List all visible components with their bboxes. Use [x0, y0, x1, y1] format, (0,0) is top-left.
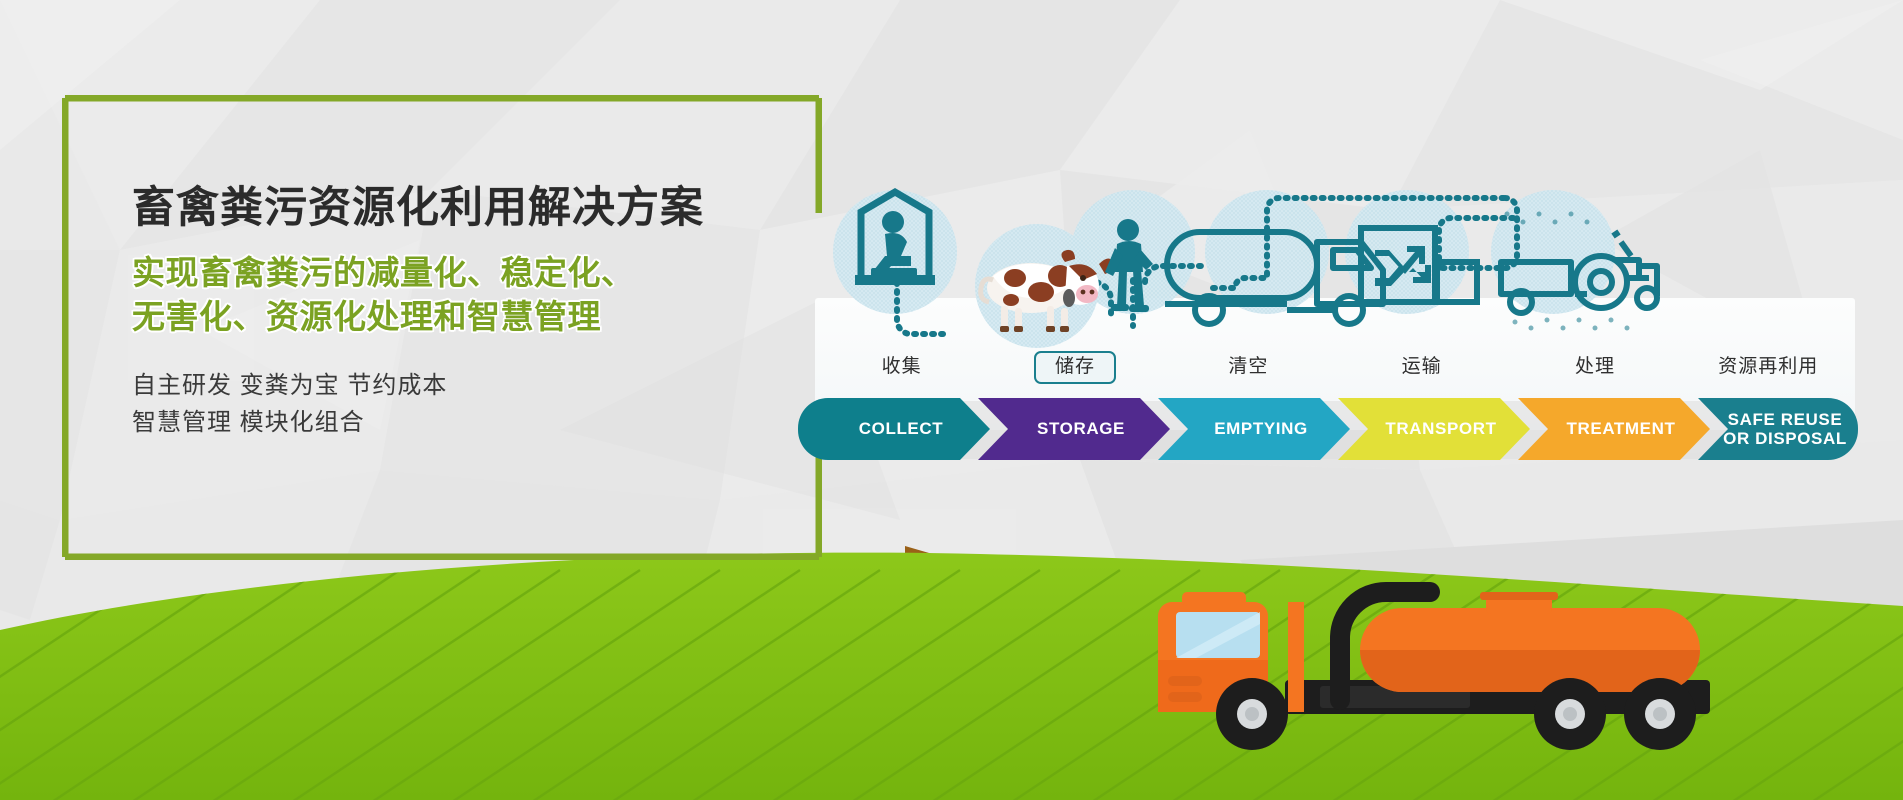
subtitle: 实现畜禽粪污的减量化、稳定化、 无害化、资源化处理和智慧管理	[132, 251, 792, 339]
process-cn-labels: 收集 储存 清空 运输 处理 资源再利用	[815, 348, 1855, 386]
text-block: 畜禽粪污资源化利用解决方案 实现畜禽粪污的减量化、稳定化、 无害化、资源化处理和…	[132, 183, 792, 442]
cn-label-transport[interactable]: 运输	[1335, 348, 1508, 386]
chevron-transport-label: TRANSPORT	[1385, 419, 1496, 438]
cn-label-emptying-text: 清空	[1228, 356, 1268, 377]
cn-label-collect-text: 收集	[882, 356, 922, 377]
process-chevron-strip: COLLECT STORAGE EMPTYING TRANSPORT TREAT…	[798, 398, 1858, 460]
chevron-collect-label: COLLECT	[859, 419, 943, 438]
cn-label-reuse-text: 资源再利用	[1718, 356, 1818, 377]
chevron-collect[interactable]: COLLECT	[798, 398, 990, 460]
tagline-line-2: 智慧管理 模块化组合	[132, 404, 792, 441]
cn-label-collect[interactable]: 收集	[815, 348, 988, 386]
cn-label-transport-text: 运输	[1402, 356, 1442, 377]
process-icon-stage	[815, 170, 1855, 370]
tagline-block: 自主研发 变粪为宝 节约成本 智慧管理 模块化组合	[132, 367, 792, 441]
cn-label-storage[interactable]: 储存	[988, 348, 1161, 386]
process-infographic: 收集 储存 清空 运输 处理 资源再利用	[815, 170, 1855, 430]
banner-root: 畜禽粪污资源化利用解决方案 实现畜禽粪污的减量化、稳定化、 无害化、资源化处理和…	[0, 0, 1903, 800]
cn-label-storage-text: 储存	[1034, 351, 1116, 384]
chevron-storage-label: STORAGE	[1037, 419, 1125, 438]
chevron-emptying-label: EMPTYING	[1214, 419, 1308, 438]
chevron-safe-reuse-label2: OR DISPOSAL	[1723, 429, 1847, 448]
cn-label-emptying[interactable]: 清空	[1162, 348, 1335, 386]
subtitle-line-1: 实现畜禽粪污的减量化、稳定化、	[132, 251, 792, 295]
chevron-safe-reuse-label: SAFE REUSE	[1723, 410, 1847, 429]
tagline-line-1: 自主研发 变粪为宝 节约成本	[132, 367, 792, 404]
cn-label-reuse[interactable]: 资源再利用	[1682, 348, 1855, 386]
subtitle-line-2: 无害化、资源化处理和智慧管理	[132, 295, 792, 339]
cn-label-treatment[interactable]: 处理	[1508, 348, 1681, 386]
cn-label-treatment-text: 处理	[1575, 356, 1615, 377]
chevron-treatment-label: TREATMENT	[1567, 419, 1676, 438]
page-title: 畜禽粪污资源化利用解决方案	[132, 183, 792, 234]
